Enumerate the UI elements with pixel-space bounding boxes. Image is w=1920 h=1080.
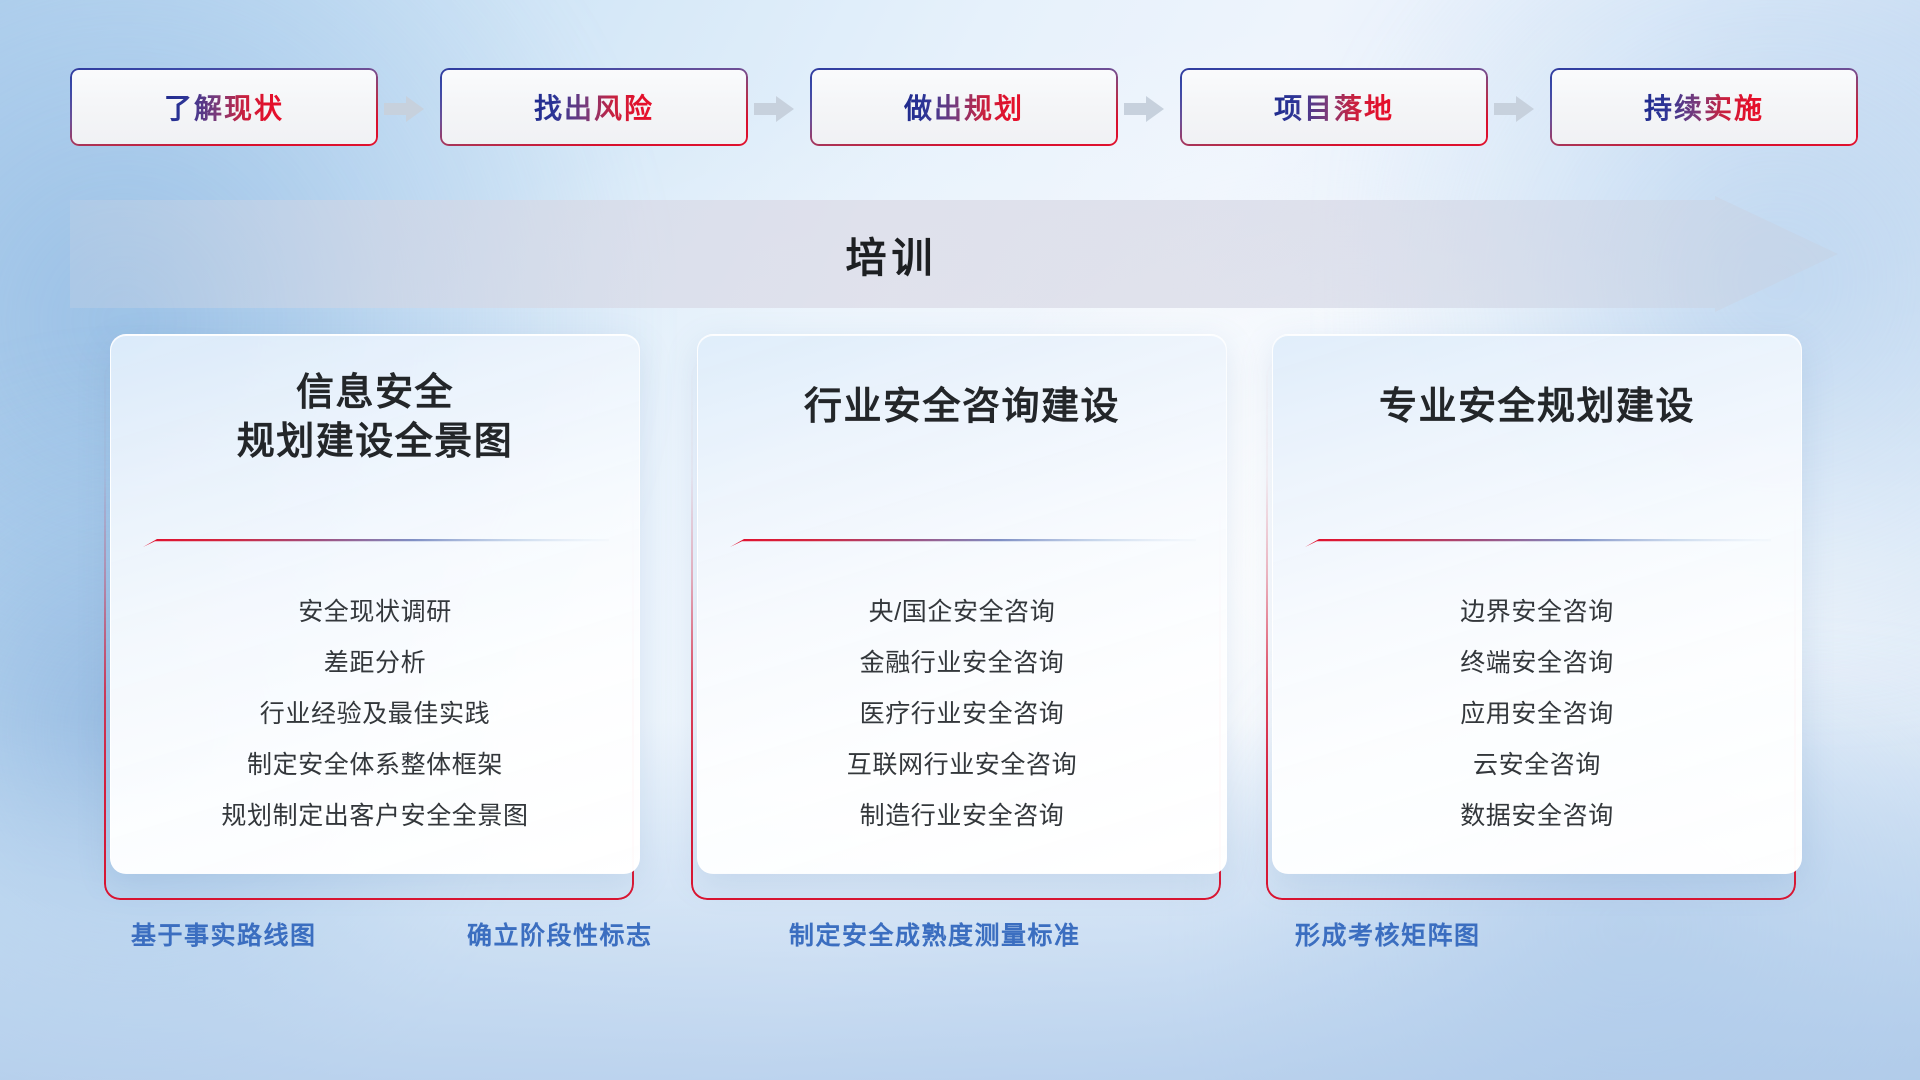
training-banner: 培训 (70, 196, 1838, 312)
card-title-line1: 行业安全咨询建设 (698, 383, 1226, 432)
caption-fact-based-roadmap: 基于事实路线图 (131, 916, 317, 956)
step-arrow-icon-2 (754, 96, 794, 122)
card-title-line1: 信息安全 (111, 369, 639, 418)
list-item: 医疗行业安全咨询 (698, 689, 1226, 740)
list-item: 差距分析 (111, 638, 639, 689)
card-body: 行业安全咨询建设 (697, 334, 1227, 874)
step-make-plan[interactable]: 做出规划 (810, 68, 1118, 146)
step-label: 了解现状 (164, 87, 284, 127)
card-body: 信息安全 规划建设全景图 (110, 334, 640, 874)
step-label: 找出风险 (534, 87, 654, 127)
caption-assessment-matrix: 形成考核矩阵图 (1295, 916, 1481, 956)
step-arrow-icon-1 (384, 96, 424, 122)
card-item-list: 边界安全咨询 终端安全咨询 应用安全咨询 云安全咨询 数据安全咨询 (1273, 587, 1801, 842)
list-item: 规划制定出客户安全全景图 (111, 791, 639, 842)
banner-label: 培训 (70, 196, 1838, 312)
step-find-risk[interactable]: 找出风险 (440, 68, 748, 146)
card-divider (730, 535, 1196, 545)
step-label: 项目落地 (1274, 87, 1394, 127)
step-project-landing[interactable]: 项目落地 (1180, 68, 1488, 146)
card-information-security-panorama[interactable]: 信息安全 规划建设全景图 (110, 334, 640, 874)
list-item: 互联网行业安全咨询 (698, 740, 1226, 791)
step-arrow-icon-4 (1494, 96, 1534, 122)
card-title: 专业安全规划建设 (1273, 383, 1801, 432)
caption-establish-milestones: 确立阶段性标志 (467, 916, 653, 956)
list-item: 数据安全咨询 (1273, 791, 1801, 842)
caption-maturity-measurement: 制定安全成熟度测量标准 (789, 916, 1081, 956)
card-industry-security-consulting[interactable]: 行业安全咨询建设 (697, 334, 1227, 874)
card-title-line1: 专业安全规划建设 (1273, 383, 1801, 432)
step-understand-status[interactable]: 了解现状 (70, 68, 378, 146)
step-continuous-implementation[interactable]: 持续实施 (1550, 68, 1858, 146)
card-title: 信息安全 规划建设全景图 (111, 369, 639, 468)
list-item: 金融行业安全咨询 (698, 638, 1226, 689)
step-arrow-icon-3 (1124, 96, 1164, 122)
list-item: 云安全咨询 (1273, 740, 1801, 791)
list-item: 安全现状调研 (111, 587, 639, 638)
list-item: 边界安全咨询 (1273, 587, 1801, 638)
list-item: 制造行业安全咨询 (698, 791, 1226, 842)
card-body: 专业安全规划建设 (1272, 334, 1802, 874)
list-item: 终端安全咨询 (1273, 638, 1801, 689)
list-item: 制定安全体系整体框架 (111, 740, 639, 791)
step-label: 做出规划 (904, 87, 1024, 127)
card-professional-security-planning[interactable]: 专业安全规划建设 (1272, 334, 1802, 874)
list-item: 央/国企安全咨询 (698, 587, 1226, 638)
list-item: 行业经验及最佳实践 (111, 689, 639, 740)
card-divider (143, 535, 609, 545)
card-title-line2: 规划建设全景图 (111, 418, 639, 467)
step-label: 持续实施 (1644, 87, 1764, 127)
list-item: 应用安全咨询 (1273, 689, 1801, 740)
card-title: 行业安全咨询建设 (698, 383, 1226, 432)
card-divider (1305, 535, 1771, 545)
process-step-strip: 了解现状 找出风险 做出规划 项目落地 持续实施 (0, 68, 1920, 146)
card-item-list: 央/国企安全咨询 金融行业安全咨询 医疗行业安全咨询 互联网行业安全咨询 制造行… (698, 587, 1226, 842)
card-item-list: 安全现状调研 差距分析 行业经验及最佳实践 制定安全体系整体框架 规划制定出客户… (111, 587, 639, 842)
